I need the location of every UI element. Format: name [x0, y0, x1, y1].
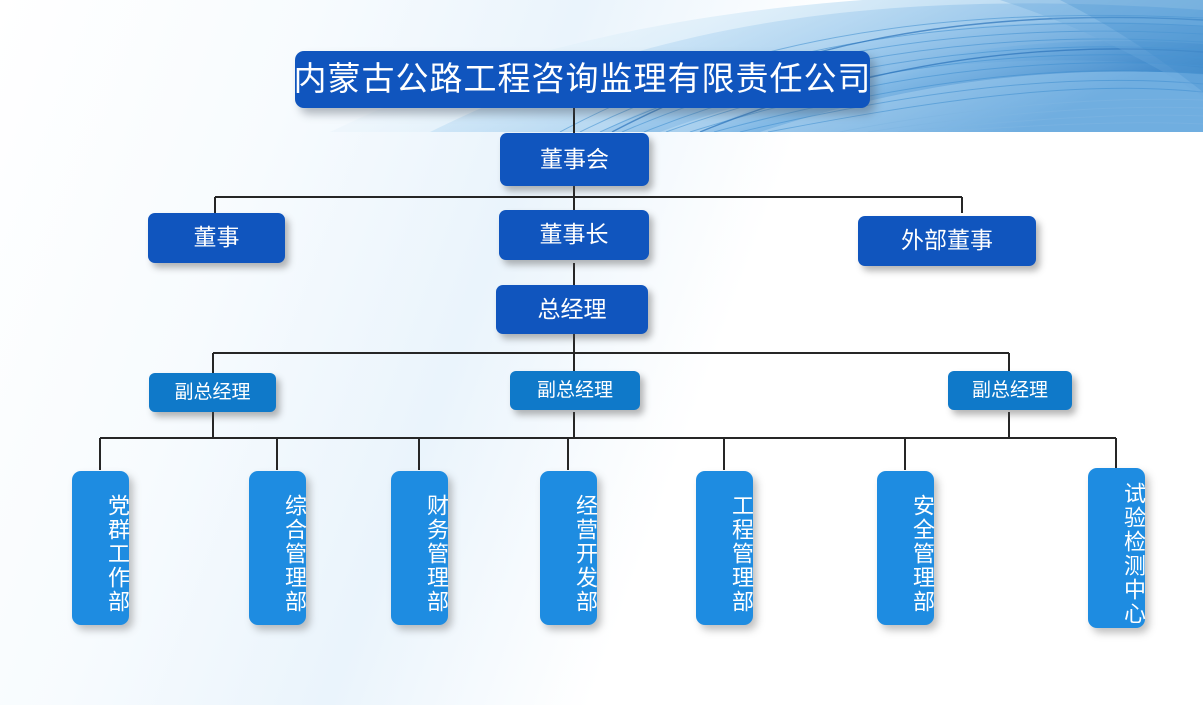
node-deputy-general-manager-2[interactable]: 副总经理	[510, 371, 640, 410]
node-director[interactable]: 董事	[148, 213, 285, 263]
node-label: 副总经理	[537, 380, 613, 401]
node-external-director[interactable]: 外部董事	[858, 216, 1036, 266]
org-chart-slide: 内蒙古公路工程咨询监理有限责任公司 董事会 董事 董事长 外部董事 总经理 副总…	[0, 0, 1203, 705]
node-department-safety-management[interactable]: 安全管理部	[877, 471, 934, 625]
node-department-finance-management[interactable]: 财务管理部	[391, 471, 448, 625]
node-deputy-general-manager-3[interactable]: 副总经理	[948, 371, 1072, 410]
node-label: 副总经理	[174, 382, 250, 403]
company-title-label: 内蒙古公路工程咨询监理有限责任公司	[294, 61, 872, 98]
node-department-testing-center[interactable]: 试验检测中心	[1088, 468, 1145, 628]
node-label: 综合管理部	[281, 494, 306, 614]
node-label: 董事会	[540, 147, 609, 173]
node-label: 工程管理部	[728, 494, 753, 614]
company-title-node[interactable]: 内蒙古公路工程咨询监理有限责任公司	[295, 51, 870, 108]
node-label: 试验检测中心	[1120, 482, 1145, 626]
node-department-business-development[interactable]: 经营开发部	[540, 471, 597, 625]
node-deputy-general-manager-1[interactable]: 副总经理	[149, 373, 276, 412]
node-label: 董事	[194, 225, 240, 251]
node-board-of-directors[interactable]: 董事会	[500, 133, 649, 186]
node-label: 安全管理部	[909, 494, 934, 614]
node-chairman[interactable]: 董事长	[499, 210, 649, 260]
node-label: 总经理	[538, 297, 607, 323]
node-label: 党群工作部	[104, 494, 129, 614]
node-label: 财务管理部	[423, 494, 448, 614]
node-department-engineering-management[interactable]: 工程管理部	[696, 471, 753, 625]
node-department-general-management[interactable]: 综合管理部	[249, 471, 306, 625]
node-general-manager[interactable]: 总经理	[496, 285, 648, 334]
node-label: 副总经理	[972, 380, 1048, 401]
node-label: 董事长	[540, 222, 609, 248]
node-department-party-mass-work[interactable]: 党群工作部	[72, 471, 129, 625]
node-label: 外部董事	[901, 228, 993, 254]
node-label: 经营开发部	[572, 494, 597, 614]
